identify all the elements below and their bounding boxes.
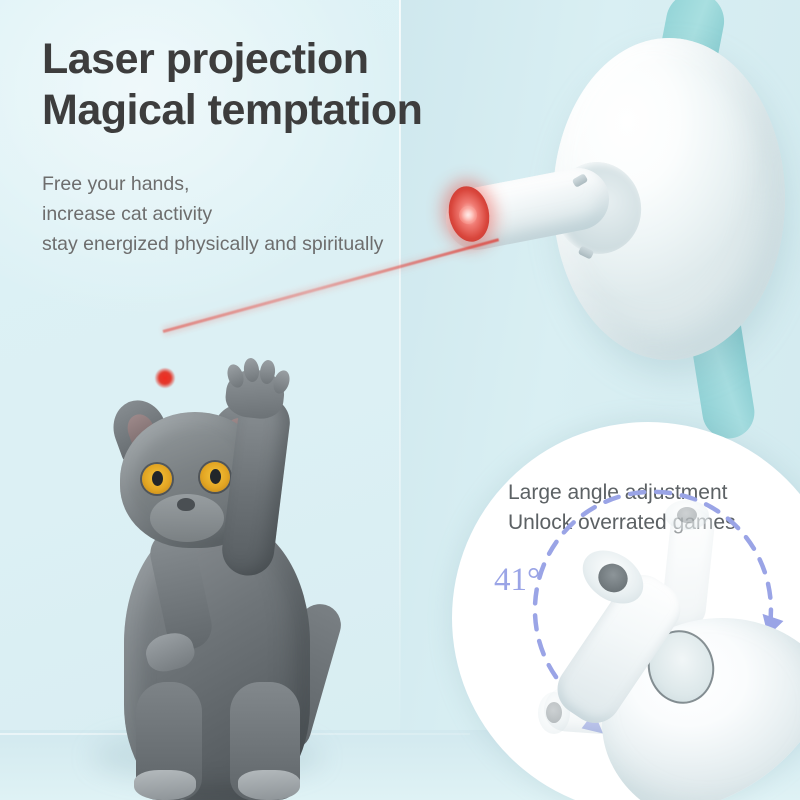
cat-pupil-right bbox=[210, 469, 221, 484]
emitter-ghost-high-hole bbox=[677, 507, 697, 523]
angle-callout-circle: Large angle adjustment Unlock overrated … bbox=[452, 422, 800, 800]
cat-hind-paw-right bbox=[238, 770, 300, 800]
angle-value-label: 41° bbox=[494, 562, 540, 599]
cat-nose bbox=[177, 498, 195, 511]
cat-pupil-left bbox=[152, 471, 163, 486]
cat-hind-paw-left bbox=[134, 770, 196, 800]
emitter-ghost-low-hole bbox=[546, 702, 562, 723]
cat-illustration bbox=[62, 352, 382, 800]
product-marketing-banner: Laser projection Magical temptation Free… bbox=[0, 0, 800, 800]
page-subtitle: Free your hands, increase cat activity s… bbox=[42, 170, 383, 259]
page-title: Laser projection Magical temptation bbox=[42, 34, 422, 135]
laser-device bbox=[455, 0, 800, 430]
laser-lens-flare bbox=[459, 206, 477, 224]
